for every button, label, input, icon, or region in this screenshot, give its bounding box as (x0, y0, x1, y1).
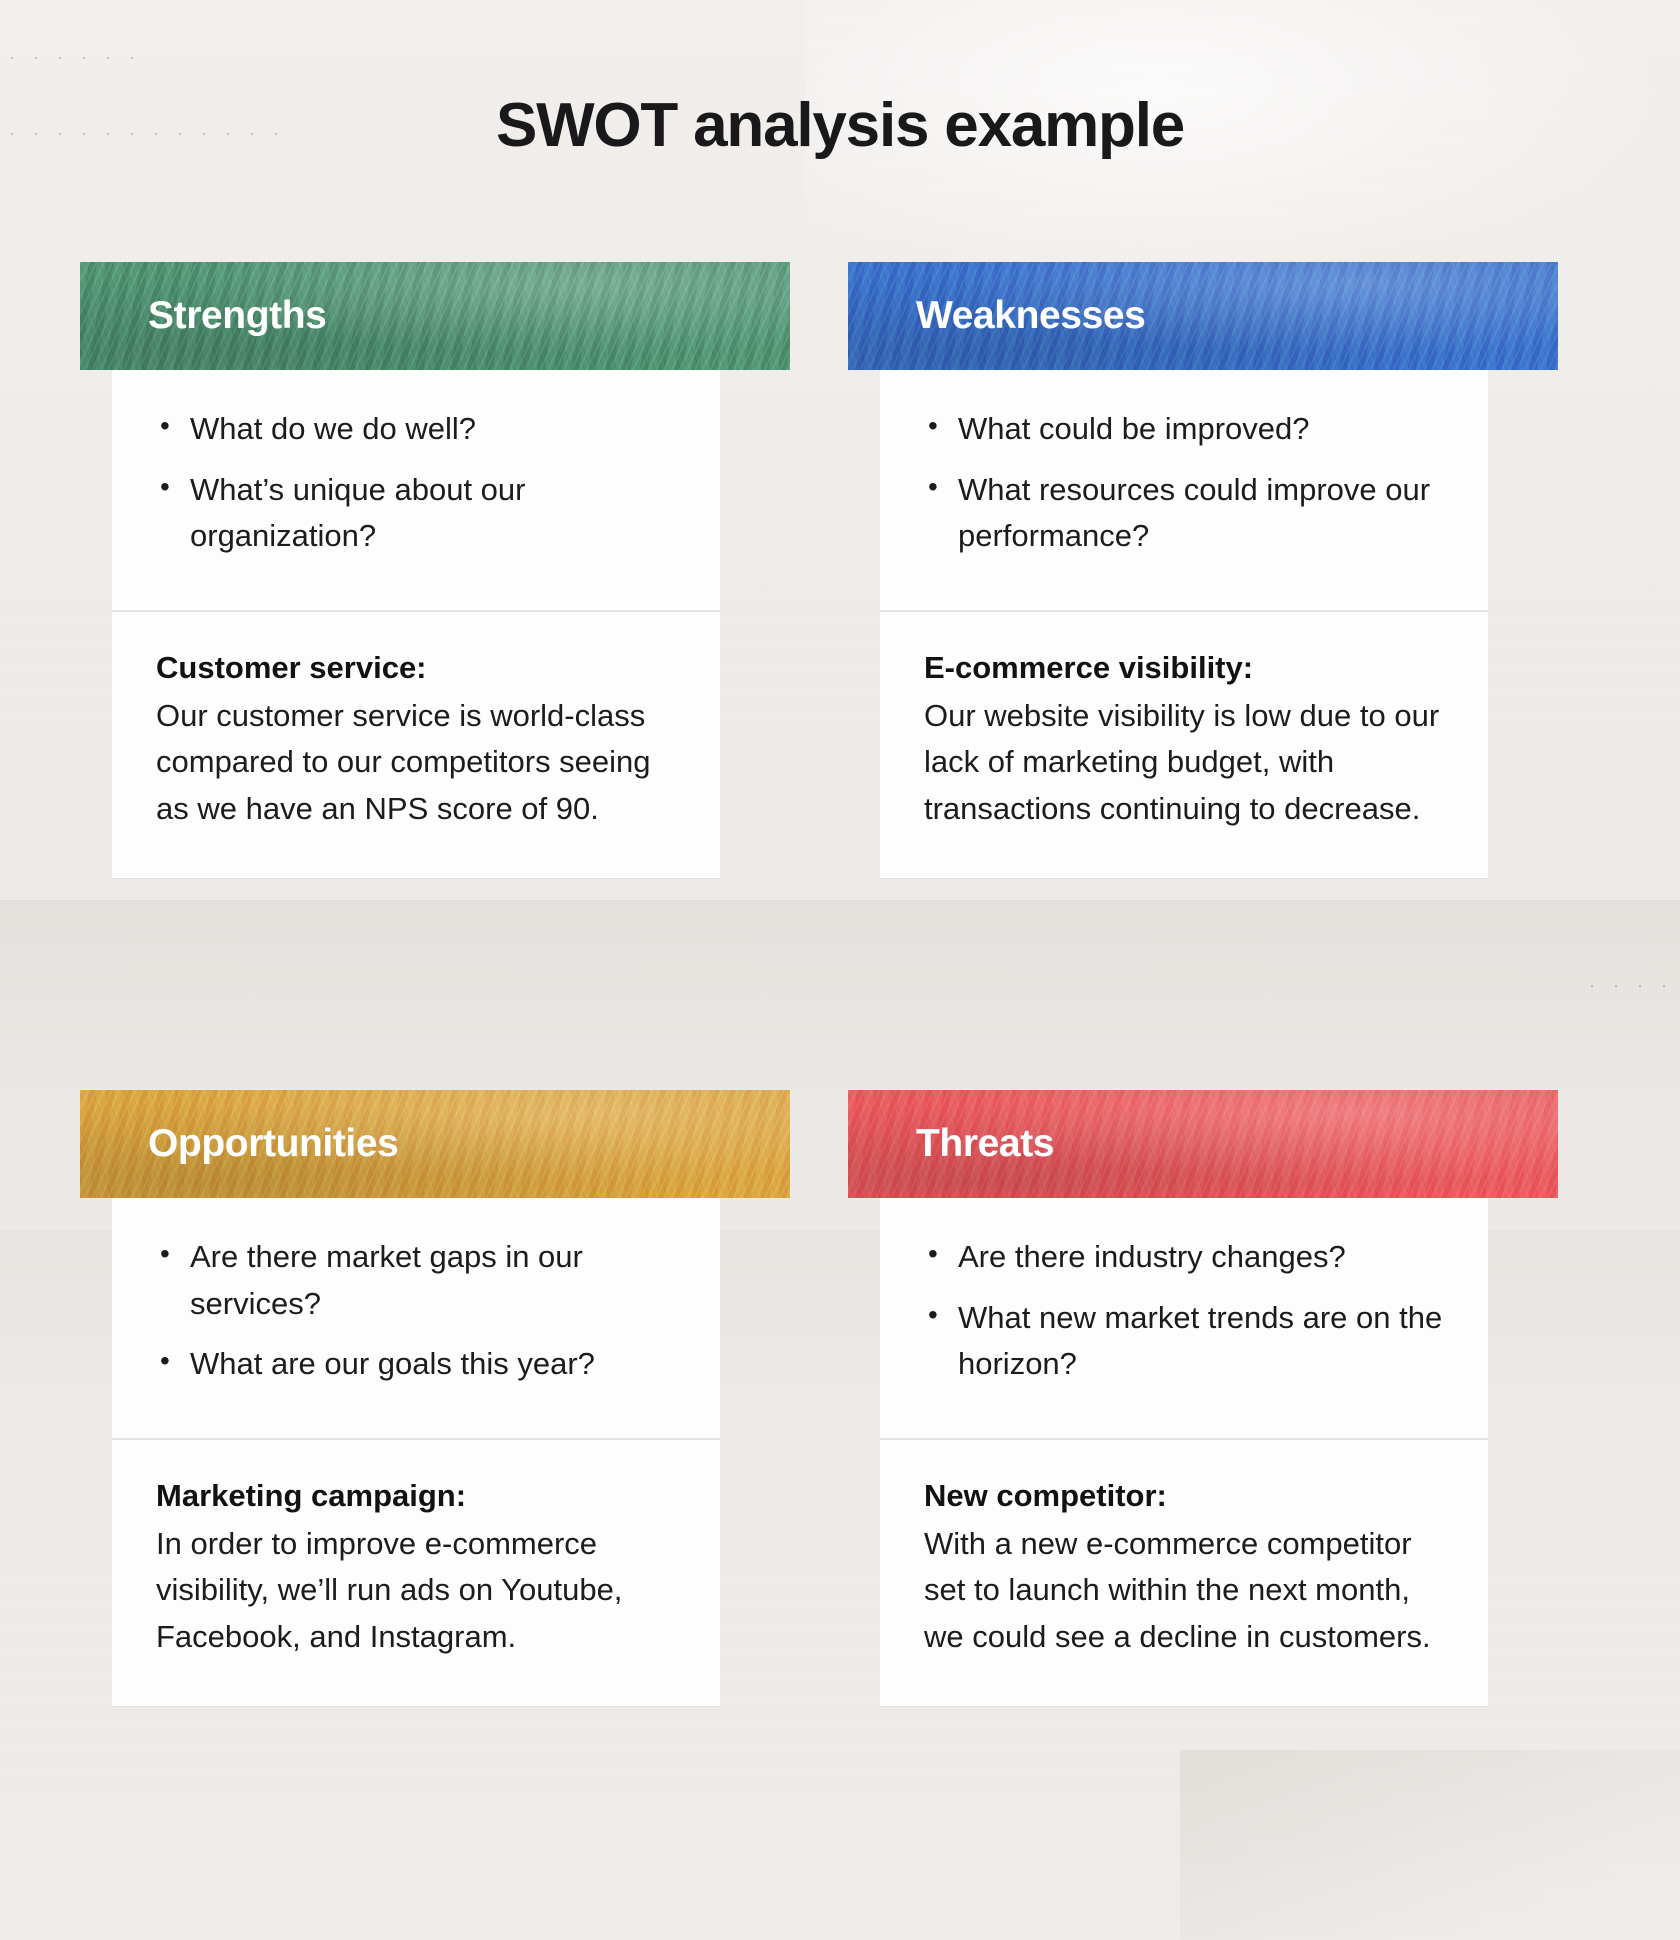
quadrant-strengths: Strengths What do we do well? What’s uni… (82, 262, 830, 878)
question-list-container-weaknesses: What could be improved? What resources c… (880, 370, 1488, 610)
swot-row-top: Strengths What do we do well? What’s uni… (82, 262, 1598, 1002)
question-item: What are our goals this year? (156, 1341, 686, 1388)
question-item: What could be improved? (924, 406, 1454, 453)
question-item: What new market trends are on the horizo… (924, 1295, 1454, 1388)
quadrant-card-threats: Are there industry changes? What new mar… (880, 1198, 1488, 1706)
quadrant-card-opportunities: Are there market gaps in our services? W… (112, 1198, 720, 1706)
example-term: Marketing campaign: (156, 1474, 690, 1519)
quadrant-header-label-threats: Threats (848, 1122, 1054, 1166)
example-container-opportunities: Marketing campaign: In order to improve … (112, 1440, 720, 1706)
question-item: What resources could improve our perform… (924, 467, 1454, 560)
example-text: With a new e-commerce competitor set to … (924, 1521, 1458, 1661)
swot-diagram: SWOT analysis example Strengths What do … (0, 0, 1680, 1936)
quadrant-header-label-weaknesses: Weaknesses (848, 294, 1145, 338)
question-list-opportunities: Are there market gaps in our services? W… (156, 1234, 686, 1388)
quadrant-header-opportunities: Opportunities (80, 1090, 790, 1198)
question-item: What do we do well? (156, 406, 686, 453)
quadrant-header-label-opportunities: Opportunities (80, 1122, 398, 1166)
example-term: New competitor: (924, 1474, 1458, 1519)
question-list-threats: Are there industry changes? What new mar… (924, 1234, 1454, 1388)
question-list-strengths: What do we do well? What’s unique about … (156, 406, 686, 560)
quadrant-header-strengths: Strengths (80, 262, 790, 370)
question-list-container-strengths: What do we do well? What’s unique about … (112, 370, 720, 610)
quadrant-weaknesses: Weaknesses What could be improved? What … (850, 262, 1598, 878)
quadrant-threats: Threats Are there industry changes? What… (850, 1090, 1598, 1706)
example-container-threats: New competitor: With a new e-commerce co… (880, 1440, 1488, 1706)
example-container-strengths: Customer service: Our customer service i… (112, 612, 720, 878)
question-item: What’s unique about our organization? (156, 467, 686, 560)
question-list-container-opportunities: Are there market gaps in our services? W… (112, 1198, 720, 1438)
question-item: Are there market gaps in our services? (156, 1234, 686, 1327)
page-title: SWOT analysis example (0, 90, 1680, 161)
quadrant-card-strengths: What do we do well? What’s unique about … (112, 370, 720, 878)
example-container-weaknesses: E-commerce visibility: Our website visib… (880, 612, 1488, 878)
quadrant-header-weaknesses: Weaknesses (848, 262, 1558, 370)
example-term: E-commerce visibility: (924, 646, 1458, 691)
example-text: Our customer service is world-class comp… (156, 693, 690, 833)
swot-grid: Strengths What do we do well? What’s uni… (82, 262, 1598, 1830)
example-text: In order to improve e-commerce visibilit… (156, 1521, 690, 1661)
quadrant-header-threats: Threats (848, 1090, 1558, 1198)
question-list-container-threats: Are there industry changes? What new mar… (880, 1198, 1488, 1438)
quadrant-card-weaknesses: What could be improved? What resources c… (880, 370, 1488, 878)
example-text: Our website visibility is low due to our… (924, 693, 1458, 833)
quadrant-opportunities: Opportunities Are there market gaps in o… (82, 1090, 830, 1706)
question-list-weaknesses: What could be improved? What resources c… (924, 406, 1454, 560)
question-item: Are there industry changes? (924, 1234, 1454, 1281)
quadrant-header-label-strengths: Strengths (80, 294, 326, 338)
swot-row-bottom: Opportunities Are there market gaps in o… (82, 1090, 1598, 1830)
example-term: Customer service: (156, 646, 690, 691)
